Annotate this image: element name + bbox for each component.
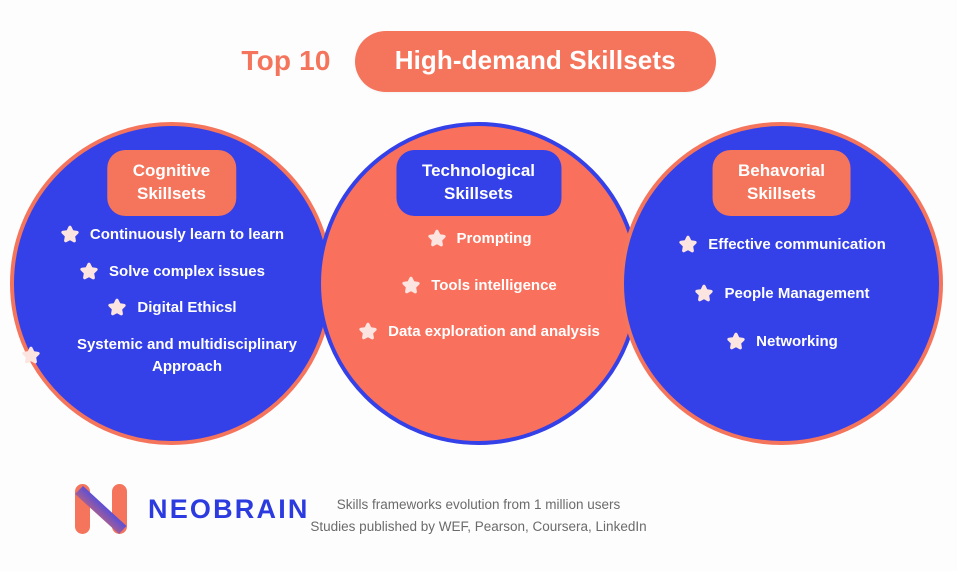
- star-icon: [693, 283, 715, 305]
- category-pill-line1: Technological: [422, 159, 535, 182]
- list-item-label: Systemic and multidisciplinary Approach: [51, 334, 323, 379]
- star-icon: [357, 321, 379, 343]
- credits: Skills frameworks evolution from 1 milli…: [0, 494, 957, 538]
- category-pill-technological: Technological Skillsets: [396, 150, 561, 216]
- skill-list-behavorial: Effective communication People Managemen…: [624, 234, 939, 380]
- credit-line-2: Studies published by WEF, Pearson, Cours…: [0, 516, 957, 538]
- list-item: Effective communication: [630, 234, 933, 257]
- category-pill-cognitive: Cognitive Skillsets: [107, 150, 236, 216]
- list-item: Tools intelligence: [327, 275, 630, 298]
- infographic-canvas: Top 10 High-demand Skillsets Cognitive S…: [0, 0, 957, 571]
- header-eyebrow: Top 10: [241, 45, 330, 77]
- list-item: Prompting: [327, 228, 630, 251]
- category-pill-line2: Skillsets: [133, 182, 210, 205]
- list-item-label: Effective communication: [708, 234, 886, 257]
- list-item-label: Digital Ethicsl: [137, 297, 236, 320]
- list-item: People Management: [630, 283, 933, 306]
- list-item-label: Tools intelligence: [431, 275, 557, 298]
- category-pill-line1: Behavorial: [738, 159, 825, 182]
- star-icon: [59, 224, 81, 246]
- category-pill-line2: Skillsets: [738, 182, 825, 205]
- list-item-label: Continuously learn to learn: [90, 224, 284, 247]
- skillset-circle-behavorial: Behavorial Skillsets Effective communica…: [620, 122, 943, 445]
- star-icon: [725, 331, 747, 353]
- star-icon: [106, 297, 128, 319]
- list-item-label: People Management: [724, 283, 869, 306]
- skillset-circle-cognitive: Cognitive Skillsets Continuously learn t…: [10, 122, 333, 445]
- star-icon: [426, 228, 448, 250]
- footer: NEOBRAIN Skills frameworks evolution fro…: [0, 470, 957, 550]
- header: Top 10 High-demand Skillsets: [0, 28, 957, 94]
- category-pill-line2: Skillsets: [422, 182, 535, 205]
- skill-list-cognitive: Continuously learn to learn Solve comple…: [14, 224, 329, 393]
- category-pill-behavorial: Behavorial Skillsets: [712, 150, 851, 216]
- credit-line-1: Skills frameworks evolution from 1 milli…: [0, 494, 957, 516]
- list-item: Solve complex issues: [20, 261, 323, 284]
- skill-list-technological: Prompting Tools intelligence Data explor…: [321, 228, 636, 368]
- list-item: Systemic and multidisciplinary Approach: [20, 334, 323, 379]
- star-icon: [677, 234, 699, 256]
- list-item-label: Solve complex issues: [109, 261, 265, 284]
- list-item: Networking: [630, 331, 933, 354]
- list-item-label: Prompting: [457, 228, 532, 251]
- list-item: Data exploration and analysis: [327, 321, 630, 344]
- star-icon: [78, 261, 100, 283]
- star-icon: [400, 275, 422, 297]
- header-title-pill: High-demand Skillsets: [355, 31, 716, 92]
- star-icon: [20, 345, 42, 367]
- category-pill-line1: Cognitive: [133, 159, 210, 182]
- list-item-label: Networking: [756, 331, 838, 354]
- skillset-circle-technological: Technological Skillsets Prompting Tools …: [317, 122, 640, 445]
- list-item: Continuously learn to learn: [20, 224, 323, 247]
- list-item-label: Data exploration and analysis: [388, 321, 600, 344]
- list-item: Digital Ethicsl: [20, 297, 323, 320]
